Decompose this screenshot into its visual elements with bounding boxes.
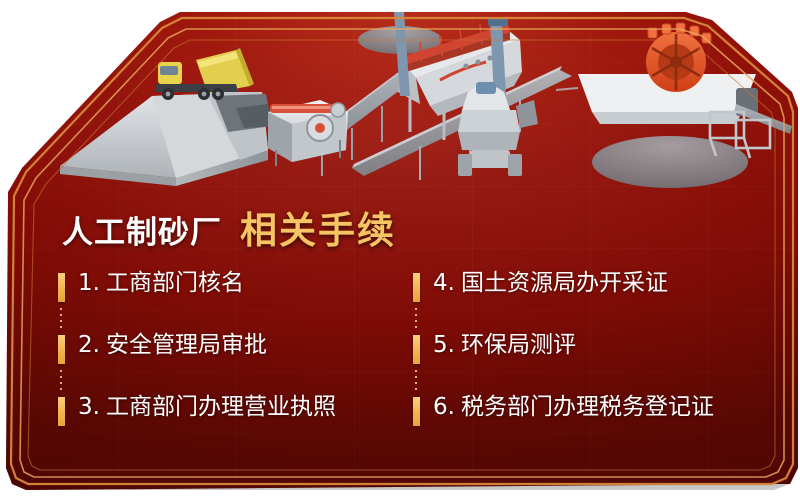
jaw-crusher — [268, 100, 348, 166]
title-gold-part: 相关手续 — [240, 200, 396, 254]
list-item[interactable]: 1. 工商部门核名 — [58, 268, 408, 330]
bullet-bar-icon — [413, 273, 420, 302]
procedure-list-right-column: 4. 国土资源局办开采证 5. 环保局测评 6. 税务部门办理税务登记证 — [413, 268, 763, 454]
poster-root: 人工制砂厂 相关手续 1. 工商部门核名 2. 安全管理局审批 3. 工商部门办… — [0, 0, 800, 500]
list-item-number: 3. — [78, 392, 100, 422]
production-line-illustration — [0, 0, 800, 200]
list-item[interactable]: 5. 环保局测评 — [413, 330, 763, 392]
list-item-label: 工商部门核名 — [106, 268, 244, 298]
list-item-number: 5. — [433, 330, 455, 360]
bullet-bar-icon — [58, 397, 65, 426]
list-item[interactable]: 3. 工商部门办理营业执照 — [58, 392, 408, 454]
page-title: 人工制砂厂 相关手续 — [62, 200, 396, 254]
list-item-number: 1. — [78, 268, 100, 298]
feeder-platform — [60, 92, 272, 186]
list-item-label: 环保局测评 — [461, 330, 576, 360]
sand-pile — [592, 136, 748, 188]
list-item-label: 税务部门办理税务登记证 — [461, 392, 714, 422]
list-item[interactable]: 2. 安全管理局审批 — [58, 330, 408, 392]
list-item-label: 工商部门办理营业执照 — [106, 392, 336, 422]
title-white-part: 人工制砂厂 — [62, 207, 222, 252]
list-item-number: 6. — [433, 392, 455, 422]
dotted-connector-icon — [415, 370, 417, 390]
list-item-number: 4. — [433, 268, 455, 298]
list-item[interactable]: 4. 国土资源局办开采证 — [413, 268, 763, 330]
bullet-bar-icon — [413, 335, 420, 364]
dotted-connector-icon — [60, 308, 62, 328]
list-item-label: 国土资源局办开采证 — [461, 268, 668, 298]
list-item-label: 安全管理局审批 — [106, 330, 267, 360]
sand-washer — [578, 23, 758, 124]
list-item-number: 2. — [78, 330, 100, 360]
bullet-bar-icon — [58, 273, 65, 302]
procedure-list: 1. 工商部门核名 2. 安全管理局审批 3. 工商部门办理营业执照 4. — [58, 268, 758, 458]
dotted-connector-icon — [415, 308, 417, 328]
procedure-list-left-column: 1. 工商部门核名 2. 安全管理局审批 3. 工商部门办理营业执照 — [58, 268, 408, 454]
bullet-bar-icon — [413, 397, 420, 426]
list-item[interactable]: 6. 税务部门办理税务登记证 — [413, 392, 763, 454]
dotted-connector-icon — [60, 370, 62, 390]
bullet-bar-icon — [58, 335, 65, 364]
